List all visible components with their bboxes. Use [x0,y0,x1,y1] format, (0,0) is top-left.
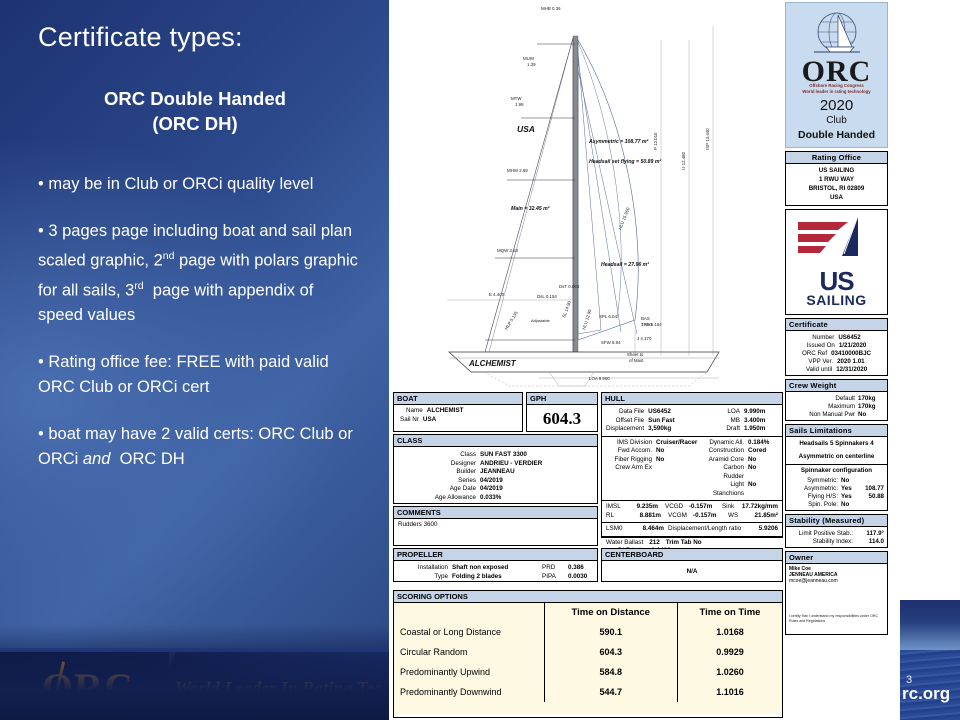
hull-value: No [748,481,778,498]
website-url: rc.org [902,684,950,704]
rating-office-box: Rating Office US SAILING 1 RWU WAY BRIST… [785,151,888,206]
hull-label: Crew Arm Ex [606,464,652,481]
propeller-table: PROPELLER InstallationShaft non exposedP… [393,548,598,582]
dim-sl: SL 14.90 [561,300,572,319]
footer-photo-strip: 3 rc.org [900,600,960,720]
label-headsail: Headsail = 27.96 m² [601,262,649,268]
subtitle-line-2: (ORC DH) [30,111,360,136]
owner-box: Owner Mike Coe JENNEAU AMERICA mcoe@jean… [785,551,888,635]
spin-value: No [841,477,859,484]
trim-tab: Trim Tab No [666,539,702,548]
bullet-list: • may be in Club or ORCi quality level •… [38,172,358,494]
list-item: • 3 pages page including boat and sail p… [38,219,358,328]
stability-box: Stability (Measured) Limit Positive Stab… [785,514,888,548]
spin-label: Spin. Pole: [789,501,838,508]
hull-value: US6452 [648,408,692,417]
owner-header: Owner [786,552,887,564]
dim-p: P 12.010 [653,132,658,150]
dim-bas: BAS [641,316,650,321]
prop-label2: PIPA [542,573,564,582]
owner-email: mcoe@jeanneau.com [789,578,884,584]
comments-header: COMMENTS [394,507,597,519]
hull-value: 0.184% [748,439,778,448]
sails-limitations-box: Sails Limitations Headsails 5 Spinnakers… [785,424,888,511]
dim-hlp: HLP 5.135 [504,310,519,331]
scoring-header: SCORING OPTIONS [394,591,782,603]
hull-label: Offset File [606,417,644,426]
hull-label: LOA [698,408,740,417]
hull-label: Construction [703,447,744,456]
table-header-row: Time on Distance Time on Time [394,603,782,622]
dim-mqw: MQW 3.53 [497,248,519,253]
dim-j: J 4.170 [637,336,652,341]
hull-value: No [748,464,778,481]
cert-detail-value: 1/21/2020 [839,342,867,349]
dim-muw: MUW [523,56,535,61]
sails-limitations-header: Sails Limitations [786,425,887,437]
lsm0-value: 8.464m [630,525,664,534]
dl-ratio-value: 5.9206 [759,525,778,534]
hull-label: Draft [698,425,740,434]
class-value: 04/2019 [480,485,503,494]
ballast-label: Water Ballast [606,539,643,548]
sail-note: Asymmetric on centerline [786,450,887,464]
prop-label2: PRD [542,564,564,573]
hull-label: Aramid Core [703,456,744,465]
table-row: Predominantly Downwind 544.7 1.1016 [394,682,782,702]
scoring-tod: 590.1 [544,622,677,642]
list-item: • Rating office fee: FREE with paid vali… [38,350,358,400]
meas-k2: VCGD [661,503,686,512]
label-main: Main = 32.45 m² [511,206,550,212]
scoring-grid: Time on Distance Time on Time Coastal or… [394,603,782,702]
class-label: Designer [398,460,476,469]
certificate-type: Double Handed [786,129,887,141]
class-label: Age Date [398,485,476,494]
dim-hlu: HLU 15.900 [617,206,631,230]
boat-value: USA [423,416,436,425]
meas-k1: RL [606,512,626,521]
cert-detail-value: 03410000BJC [831,350,871,357]
spin-extra [862,477,884,484]
class-label: Builder [398,468,476,477]
spin-label: Symmetric: [789,477,838,484]
table-row: Predominantly Upwind 584.8 1.0260 [394,662,782,682]
us-sailing-sailing: SAILING [786,292,887,308]
label-hsf: Headsail set flying = 50.89 m² [589,159,661,165]
class-value: SUN FAST 3300 [480,451,527,460]
hull-value: 9.990m [744,408,778,417]
hull-label: Dynamic All. [703,439,744,448]
svg-text:of Mast: of Mast [629,358,644,363]
dim-sheet: Sheet to [627,352,644,357]
rating-office-line: BRISTOL, RI 02809 [786,184,887,193]
sail-plan-svg: MHB 0.36 MUW1.39 MTW1.98 MHW 2.69 MQW 3.… [389,0,783,392]
slide-canvas: Certificate types: ORC Double Handed (OR… [0,0,960,720]
meas-k3: WS [728,512,746,521]
spin-label: Flying H/S: [789,493,838,500]
hull-value: Sun Fast [648,417,692,426]
boat-table: BOAT NameALCHEMIST Sail NrUSA [393,392,523,432]
slide-subtitle: ORC Double Handed (ORC DH) [30,86,360,136]
hull-label: Data File [606,408,644,417]
hull-value: Cored [748,447,778,456]
certificate-sheet: MHB 0.36 MUW1.39 MTW1.98 MHW 2.69 MQW 3.… [389,0,960,720]
centerboard-table: CENTERBOARD N/A [601,548,783,582]
class-value: 0.033% [480,494,501,503]
meas-v1: 8.881m [629,512,661,521]
class-label: Age Allowance [398,494,476,503]
propeller-header: PROPELLER [394,549,597,561]
boat-value: ALCHEMIST [427,407,464,416]
meas-v3: 21.85m² [749,512,778,521]
banner-divider [0,648,389,652]
spin-extra [862,501,884,508]
hull-value: 1.950m [744,425,778,434]
dim-spl: SPL 6.04 [599,314,617,319]
certificate-year: 2020 [786,97,887,114]
cert-detail-label: VPP Ver. [808,358,833,365]
prop-label: Installation [398,564,448,573]
orc-logo-text: ORC [42,664,134,711]
class-value: JEANNEAU [480,468,515,477]
scoring-tod: 584.8 [544,662,677,682]
us-sailing-mark-icon [786,210,887,268]
globe-sailboat-icon [808,11,866,57]
stability-value: 114.0 [856,538,884,545]
crew-weight-value: 170kg [858,403,884,410]
spin-extra: 108.77 [862,485,884,492]
stability-label: Limit Positive Stab.: [789,530,853,537]
meas-k3: Sink [722,503,739,512]
comments-text: Rudders 3600 [398,521,438,528]
cert-detail-label: Issued On [807,342,835,349]
hull-label: MB [698,417,740,426]
footer-banner: ORC World Leader In Rating Tec [0,648,389,720]
dim-mtw: MTW [511,96,522,101]
class-value: ANDRIEU - VERDIER [480,460,542,469]
scoring-tod: 544.7 [544,682,677,702]
comments-table: COMMENTS Rudders 3600 [393,506,598,546]
hull-value: No [748,456,778,465]
certificate-level: Club [786,115,887,126]
crew-weight-header: Crew Weight [786,380,887,392]
hull-value: 3.400m [744,417,778,426]
hull-label: Displacement [606,425,644,434]
dim-tps: TPS 5.164 [641,322,662,327]
orc-tagline: World Leader In Rating Tec [175,678,382,699]
cert-detail-value: US6452 [838,334,860,341]
meas-v2: -0.157m [693,512,725,521]
label-asym: Asymmetric = 108.77 m² [588,139,649,145]
meas-k2: VCGM [664,512,690,521]
certificate-side-column: ORC Offshore Racing Congress World leade… [785,2,888,638]
table-row: Coastal or Long Distance 590.1 1.0168 [394,622,782,642]
gph-header: GPH [527,393,597,405]
scoring-options-table: SCORING OPTIONS Time on Distance Time on… [393,590,783,718]
hull-label: Fiber Rigging [606,456,652,465]
prop-value: Folding 2 blades [452,573,538,582]
table-row: Circular Random 604.3 0.9929 [394,642,782,662]
class-label: Class [398,451,476,460]
crew-weight-value: 170kg [858,395,884,402]
scoring-tot: 1.1016 [677,682,782,702]
col-blank [394,603,544,622]
dl-ratio-label: Displacement/Length ratio [668,525,755,534]
orc-sub-line-2: World leader in rating technology [786,89,887,94]
prop-value: Shaft non exposed [452,564,538,573]
hull-label: Carbon Rudder [703,464,744,481]
orc-certificate-logo: ORC Offshore Racing Congress World leade… [785,2,888,148]
rating-office-line: 1 RWU WAY [786,175,887,184]
svg-text:1.98: 1.98 [515,102,524,107]
dim-dsl: DsL 0.154 [537,294,557,299]
rating-office-line: USA [786,193,887,202]
certificate-details-box: Certificate NumberUS6452 Issued On1/21/2… [785,318,888,376]
spin-value: No [841,501,859,508]
dim-sfw: SFW 8.94 [601,340,621,345]
gph-table: GPH 604.3 [526,392,598,432]
rating-office-header: Rating Office [786,152,887,164]
meas-v2: -0.157m [689,503,719,512]
stability-header: Stability (Measured) [786,515,887,527]
photo-sky [900,600,960,650]
cert-detail-label: Valid until [806,366,832,373]
hull-value: No [656,456,664,465]
dim-isp: ISP 13.440 [705,128,710,150]
cert-detail-value: 2020 1.01 [837,358,865,365]
hull-label: Fwd Accom. [606,447,652,456]
spin-value: Yes [841,493,859,500]
list-item: • may be in Club or ORCi quality level [38,172,358,197]
sail-counts: Headsails 5 Spinnakers 4 [786,437,887,450]
list-item: • boat may have 2 valid certs: ORC Club … [38,422,358,472]
stability-value: 117.9° [856,530,884,537]
prop-value2: 0.0030 [568,573,587,582]
certificate-details-header: Certificate [786,319,887,331]
ballast-value: 212 [649,539,660,548]
page-title: Certificate types: [38,22,243,53]
scoring-tot: 0.9929 [677,642,782,662]
scoring-tod: 604.3 [544,642,677,662]
orc-sub-line-1: Offshore Racing Congress [786,83,887,88]
hull-label: IMS Division [606,439,652,448]
class-value: 04/2019 [480,477,503,486]
scoring-row-name: Coastal or Long Distance [394,622,544,642]
prop-label: Type [398,573,448,582]
meas-k1: IMSL [606,503,625,512]
dim-mhw: MHW 2.69 [507,168,528,173]
centerboard-value: N/A [687,568,698,575]
hull-label: Light Stanchions [703,481,744,498]
crew-weight-value: No [858,411,884,418]
dim-loa: LOA 9.900 [589,376,610,381]
class-header: CLASS [394,435,597,447]
spin-label: Asymmetric: [789,485,838,492]
hull-value: No [656,447,664,456]
centerboard-header: CENTERBOARD [602,549,782,561]
cert-detail-label: Number [812,334,834,341]
crew-weight-label: Default [789,395,855,402]
col-time-on-time: Time on Time [677,603,782,622]
meas-v3: 17.72kg/mm [742,503,778,512]
rating-office-line: US SAILING [786,166,887,175]
spin-value: Yes [841,485,859,492]
us-sailing-logo: US SAILING [785,209,888,315]
hull-value: 3,590kg [648,425,692,434]
boat-label: Sail Nr [400,416,419,425]
hull-table: HULL Data FileUS6452 LOA9.990m Offset Fi… [601,392,783,538]
crew-weight-box: Crew Weight Default170kg Maximum170kg No… [785,379,888,421]
crew-weight-label: Non Manual Pwr [789,411,855,418]
gph-value: 604.3 [527,405,597,429]
sail-plan-drawing: MHB 0.36 MUW1.39 MTW1.98 MHW 2.69 MQW 3.… [389,0,783,392]
spin-extra: 50.88 [862,493,884,500]
boat-label: Name [406,407,423,416]
hull-header: HULL [602,393,782,405]
col-time-on-distance: Time on Distance [544,603,677,622]
dim-hlu2: HLU 12.99 [581,308,592,330]
meas-v1: 9.235m [628,503,658,512]
cert-detail-value: 12/31/2020 [836,366,867,373]
scoring-row-name: Predominantly Upwind [394,662,544,682]
dim-ij: IJ 12.480 [681,151,686,170]
scoring-row-name: Predominantly Downwind [394,682,544,702]
left-content-panel: Certificate types: ORC Double Handed (OR… [0,0,389,720]
scoring-row-name: Circular Random [394,642,544,662]
dim-e: E 4.400 [489,292,505,297]
hull-value: Cruiser/Racer [656,439,697,448]
svg-text:1.39: 1.39 [527,62,536,67]
subtitle-line-1: ORC Double Handed [30,86,360,111]
spinnaker-config-header: Spinnaker configuration [786,465,887,476]
dim-dst: DsT 0.093 [559,284,580,289]
lsm0-label: LSM0 [606,525,626,534]
cert-detail-label: ORC Ref [802,350,827,357]
boat-name-label: ALCHEMIST [468,359,517,368]
scoring-tot: 1.0260 [677,662,782,682]
owner-disclaimer: I certify that I understand my responsib… [786,612,887,625]
boat-header: BOAT [394,393,522,405]
prop-value2: 0.386 [568,564,584,573]
class-table: CLASS ClassSUN FAST 3300 DesignerANDRIEU… [393,434,598,504]
class-label: Series [398,477,476,486]
scoring-tot: 1.0168 [677,622,782,642]
label-adjustable: Adjustable [531,318,550,323]
crew-weight-label: Maximum [789,403,855,410]
sail-letters: USA [517,124,535,134]
dim-mhb: MHB 0.36 [541,6,561,11]
stability-label: Stability Index: [789,538,853,545]
